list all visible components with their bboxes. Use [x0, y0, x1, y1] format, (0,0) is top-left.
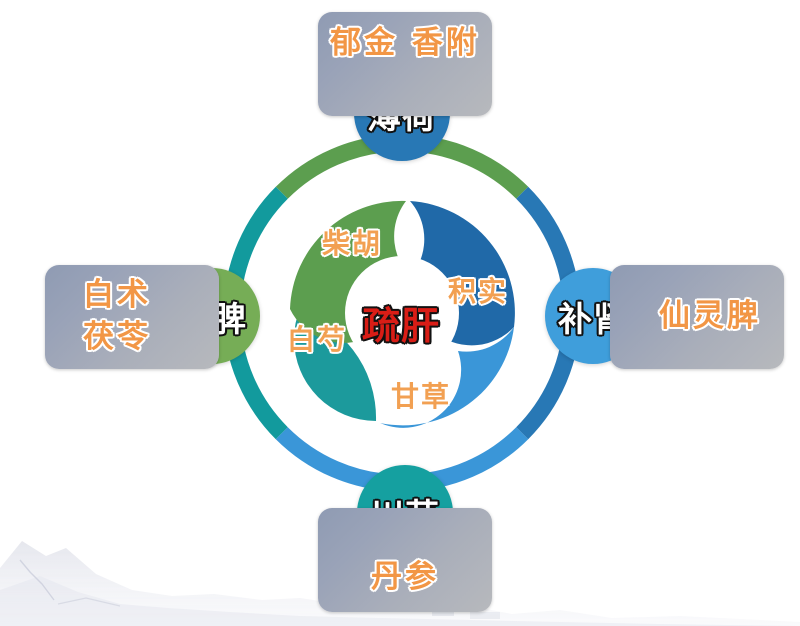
herb-box-left-line1: 白术	[83, 276, 151, 316]
petal-label-gancao: 甘草	[391, 375, 451, 415]
herb-box-left-line2: 茯苓	[83, 318, 151, 358]
herb-box-right[interactable]: 仙灵脾	[610, 265, 784, 369]
petal-label-baishao: 白芍	[287, 318, 347, 358]
herb-box-bottom-line1: 丹参	[371, 558, 439, 598]
herb-box-top[interactable]: 郁金 香附	[318, 12, 492, 116]
petal-label-chaihu: 柴胡	[322, 222, 382, 262]
herb-box-bottom[interactable]: 丹参	[318, 508, 492, 612]
herb-box-right-line1: 仙灵脾	[659, 297, 761, 337]
herb-box-left[interactable]: 白术 茯苓	[45, 265, 219, 369]
center-label: 疏肝	[362, 295, 440, 350]
petal-label-zhishi: 积实	[448, 270, 508, 310]
herb-box-top-line1: 郁金 香附	[330, 24, 480, 64]
diagram-canvas: 薄荷 健脾 补肾 川芎 郁金 香附 白术 茯苓 仙灵脾 丹参 柴胡 积实 白芍 …	[0, 0, 800, 626]
